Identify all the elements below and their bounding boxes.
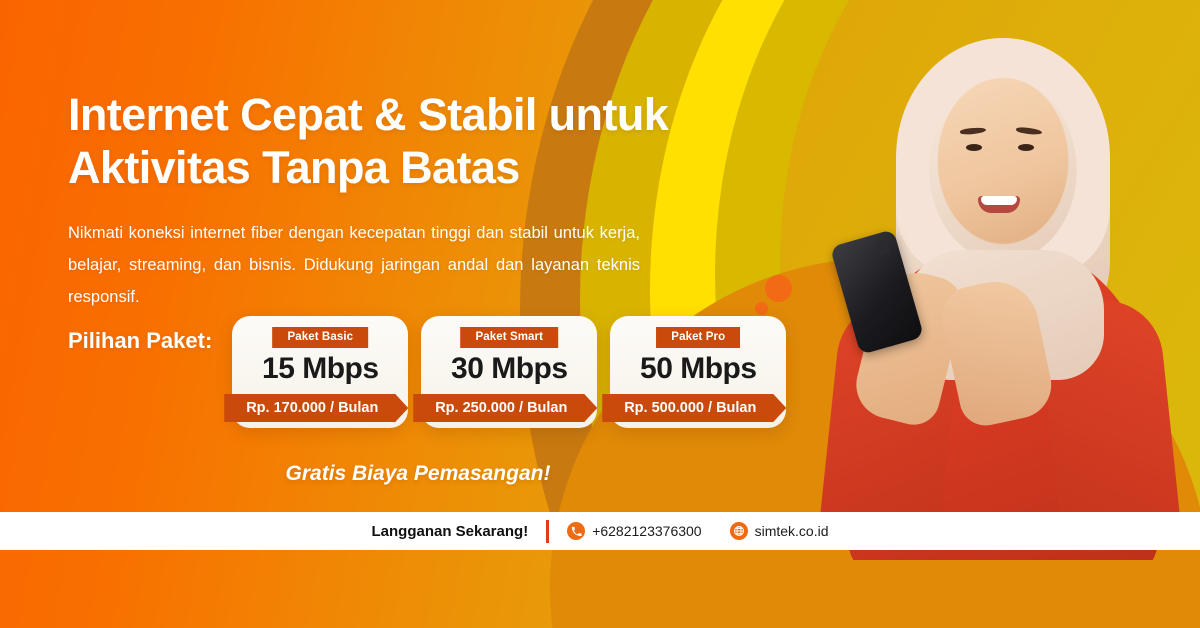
package-card[interactable]: Paket Pro 50 Mbps Rp. 500.000 / Bulan (610, 316, 786, 428)
promo-banner: Internet Cepat & Stabil untuk Aktivitas … (0, 0, 1200, 628)
model-photo (800, 0, 1200, 560)
footer-phone-number: +6282123376300 (592, 523, 701, 539)
footer-phone[interactable]: +6282123376300 (567, 522, 701, 540)
package-price-ribbon: Rp. 170.000 / Bulan (224, 394, 408, 422)
footer-divider (546, 520, 549, 543)
content-column: Internet Cepat & Stabil untuk Aktivitas … (68, 0, 768, 512)
footer-website[interactable]: simtek.co.id (730, 522, 829, 540)
packages-label: Pilihan Paket: (68, 316, 212, 354)
decor-dot-large (765, 275, 792, 302)
description-text: Nikmati koneksi internet fiber dengan ke… (68, 218, 640, 313)
promo-tagline: Gratis Biaya Pemasangan! (68, 462, 768, 486)
package-name-badge: Paket Smart (460, 327, 558, 348)
package-card-list: Paket Basic 15 Mbps Rp. 170.000 / Bulan … (232, 316, 786, 428)
package-name-badge: Paket Basic (272, 327, 368, 348)
page-title: Internet Cepat & Stabil untuk Aktivitas … (68, 88, 758, 194)
package-speed: 15 Mbps (232, 352, 408, 386)
packages-section: Pilihan Paket: Paket Basic 15 Mbps Rp. 1… (68, 316, 828, 444)
package-price-ribbon: Rp. 250.000 / Bulan (413, 394, 597, 422)
package-speed: 30 Mbps (421, 352, 597, 386)
package-card[interactable]: Paket Basic 15 Mbps Rp. 170.000 / Bulan (232, 316, 408, 428)
footer-content: Langganan Sekarang! +6282123376300 (371, 520, 828, 543)
footer-website-url: simtek.co.id (755, 523, 829, 539)
package-card[interactable]: Paket Smart 30 Mbps Rp. 250.000 / Bulan (421, 316, 597, 428)
package-name-badge: Paket Pro (656, 327, 740, 348)
package-speed: 50 Mbps (610, 352, 786, 386)
globe-icon (730, 522, 748, 540)
hijab-front (896, 38, 1110, 274)
footer-bar: Langganan Sekarang! +6282123376300 (0, 512, 1200, 550)
phone-icon (567, 522, 585, 540)
package-price-ribbon: Rp. 500.000 / Bulan (602, 394, 786, 422)
footer-cta-text: Langganan Sekarang! (371, 523, 528, 540)
